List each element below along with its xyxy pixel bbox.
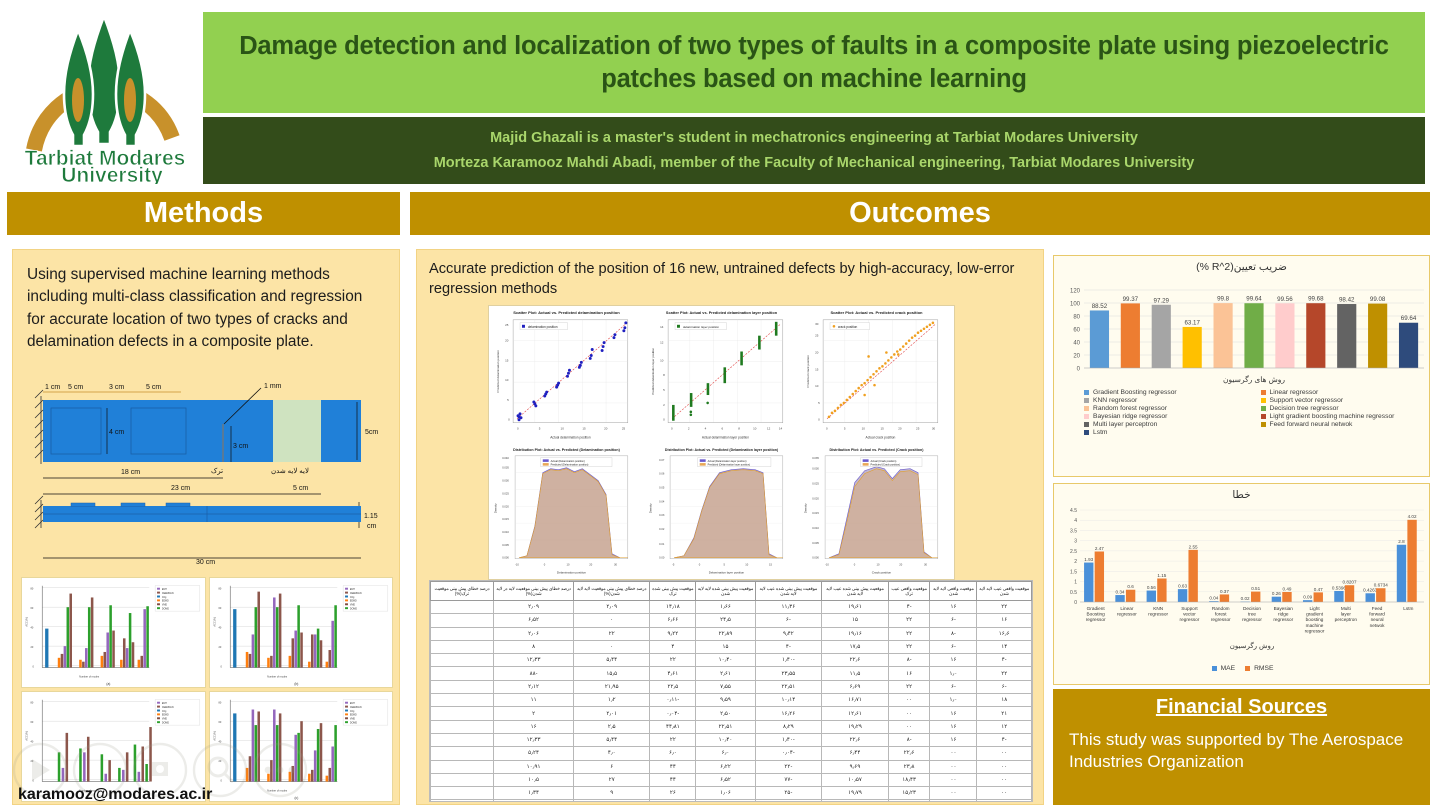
table-col-header-5: موقعیت پیش بینی شده لایه لایه شدن bbox=[696, 582, 755, 601]
table-row: -۴۱۶-۸۲۲٫۶-۱٫۴۰۱۰٫۴۰۲۲۵٫۴۴۱۲٫۳۳ bbox=[431, 654, 1032, 667]
error-bar bbox=[1334, 591, 1343, 602]
dim-30cm: 30 cm bbox=[196, 559, 215, 566]
table-cell: ۱٫۰ bbox=[930, 694, 977, 707]
svg-text:VMD: VMD bbox=[349, 605, 354, 607]
table-cell: ۵٫۲۴ bbox=[493, 747, 573, 760]
svg-text:20: 20 bbox=[218, 646, 221, 649]
table-cell: ۸ bbox=[493, 640, 573, 653]
table-cell: ۶٫۶۶ bbox=[650, 614, 696, 627]
svg-text:0.025: 0.025 bbox=[502, 491, 509, 495]
dist-3-xlabel: Crack position bbox=[872, 570, 892, 574]
svg-text:0.000: 0.000 bbox=[502, 555, 509, 559]
table-col-header-0: موقعیت واقعی عیب لایه لایه شدن bbox=[977, 582, 1032, 601]
poster-title-banner: Damage detection and localization of two… bbox=[203, 12, 1425, 113]
r2-legend-item: Gradient Boosting regressor bbox=[1084, 389, 1253, 396]
error-xtick: gradient bbox=[1306, 612, 1324, 617]
svg-text:0: 0 bbox=[818, 418, 820, 422]
table-cell: ۱۱ bbox=[493, 694, 573, 707]
results-plots-panel: Scatter Plot: Actual vs. Predicted delam… bbox=[488, 305, 955, 580]
error-chart-legend: MAERMSE bbox=[1054, 665, 1431, 672]
error-bar-value: 0.4263 bbox=[1363, 588, 1377, 593]
table-col-header-3: موقعیت پیش بینی شده عیب لایه لایه شدن bbox=[822, 582, 889, 601]
error-chart-title: خطا bbox=[1054, 484, 1429, 501]
r2-bar bbox=[1090, 310, 1109, 368]
table-cell: ۱٫۲ bbox=[574, 694, 650, 707]
r2-chart-legend: Gradient Boosting regressorLinear regres… bbox=[1084, 389, 1429, 474]
svg-text:20: 20 bbox=[604, 427, 608, 431]
svg-text:Number of modes: Number of modes bbox=[267, 789, 288, 792]
r2-bar-value: 69.64 bbox=[1401, 315, 1417, 322]
poster-title: Damage detection and localization of two… bbox=[203, 30, 1425, 95]
table-cell: ۲٫۵ bbox=[574, 720, 650, 733]
table-cell: ۴ bbox=[650, 640, 696, 653]
svg-text:CEEMDAN: CEEMDAN bbox=[349, 592, 361, 595]
table-cell: -۶ bbox=[930, 614, 977, 627]
dist-2-legend-pred: Predicted (Delamination layer position) bbox=[708, 463, 751, 466]
svg-text:5: 5 bbox=[723, 562, 725, 566]
dim-5cm-bottom: 5 cm bbox=[293, 485, 308, 492]
svg-text:20: 20 bbox=[31, 646, 34, 649]
error-xtick: Boosting bbox=[1087, 612, 1106, 617]
table-cell: ۱۶ bbox=[930, 733, 977, 746]
table-cell: -۱٫۴۰ bbox=[755, 733, 822, 746]
svg-text:10: 10 bbox=[505, 378, 509, 382]
svg-text:20: 20 bbox=[31, 760, 34, 763]
dist-1-legend-pred: Predicted (Delamination position) bbox=[551, 462, 589, 466]
table-cell: ۴٫۰ bbox=[574, 747, 650, 760]
error-ytick: 1 bbox=[1074, 580, 1077, 586]
table-cell: ۲۲٫۵ bbox=[650, 680, 696, 693]
r2-bar-value: 99.64 bbox=[1246, 296, 1262, 303]
distribution-plot-delamination: Distribution Plot: Actual vs. Predicted … bbox=[489, 443, 644, 580]
table-cell: -۴ bbox=[755, 640, 822, 653]
error-xtick: layer bbox=[1341, 612, 1352, 617]
svg-text:EMT: EMT bbox=[349, 703, 354, 705]
svg-text:40: 40 bbox=[31, 627, 34, 630]
error-bar-value: 0.6734 bbox=[1374, 583, 1388, 588]
svg-text:0.020: 0.020 bbox=[502, 504, 509, 508]
error-bar-value: 4.02 bbox=[1408, 514, 1417, 519]
table-cell bbox=[431, 694, 494, 707]
svg-text:VMD: VMD bbox=[349, 719, 354, 721]
scatter-1-xlabel: Actual delamination position bbox=[550, 436, 591, 440]
error-xtick: Support bbox=[1181, 606, 1198, 611]
legend-label: RMSE bbox=[1254, 665, 1273, 672]
svg-text:80: 80 bbox=[218, 702, 221, 705]
table-cell: ۰۰ bbox=[888, 720, 930, 733]
table-cell: ۲۲ bbox=[977, 667, 1032, 680]
error-xtick: KNN bbox=[1153, 606, 1163, 611]
table-cell: ۰ bbox=[574, 640, 650, 653]
dim-thickness-unit: cm bbox=[367, 523, 377, 530]
error-bar-value: 0.51 bbox=[1251, 586, 1260, 591]
svg-text:10: 10 bbox=[753, 427, 757, 431]
table-cell: ۱۶ bbox=[930, 601, 977, 614]
table-cell: ۲٫۰۱ bbox=[574, 707, 650, 720]
table-cell bbox=[431, 614, 494, 627]
table-cell: ۱۰٫۵۷ bbox=[822, 773, 889, 786]
error-bar-value: 0.56 bbox=[1147, 585, 1156, 590]
error-bar bbox=[1366, 593, 1375, 602]
error-bar bbox=[1188, 550, 1197, 602]
table-cell: ۱۲٫۳۳ bbox=[493, 733, 573, 746]
table-cell: ۴۴ bbox=[650, 773, 696, 786]
svg-text:5: 5 bbox=[818, 401, 820, 405]
r2-bar-value: 63.17 bbox=[1184, 319, 1200, 326]
patch-2 bbox=[131, 408, 186, 454]
financial-sources-card: Financial Sources This study was support… bbox=[1053, 689, 1430, 805]
table-cell: -۸۸ bbox=[493, 667, 573, 680]
svg-text:0: 0 bbox=[220, 666, 222, 669]
table-col-header-4: موقعیت پیش بینی شده عیب لایه لایه شدن bbox=[755, 582, 822, 601]
scatter-1-title: Scatter Plot: Actual vs. Predicted delam… bbox=[513, 310, 620, 315]
table-cell: ۲٫۶۱ bbox=[696, 667, 755, 680]
table-cell: ۱۶ bbox=[930, 720, 977, 733]
error-bar bbox=[1314, 592, 1323, 602]
table-cell: ۶٫۰ bbox=[650, 747, 696, 760]
table-cell bbox=[431, 720, 494, 733]
table-cell: ۱٫۰ bbox=[930, 667, 977, 680]
svg-text:DOMD: DOMD bbox=[349, 609, 356, 611]
table-cell: ۱۸٫۴۳ bbox=[888, 773, 930, 786]
svg-text:0: 0 bbox=[220, 780, 222, 783]
table-cell: ۲۲٫۶ bbox=[822, 654, 889, 667]
svg-text:12: 12 bbox=[767, 427, 771, 431]
r2-bar-value: 97.29 bbox=[1154, 297, 1170, 304]
error-bar-value: 0.26 bbox=[1272, 591, 1281, 596]
table-cell: ۱۵ bbox=[822, 614, 889, 627]
svg-text:0.040: 0.040 bbox=[502, 455, 509, 459]
predictions-data-table: موقعیت واقعی عیب لایه لایه شدنموقعیت واق… bbox=[429, 580, 1033, 802]
svg-text:10: 10 bbox=[561, 427, 565, 431]
r2-bar-value: 99.08 bbox=[1370, 296, 1386, 303]
svg-text:10: 10 bbox=[567, 562, 570, 566]
error-xtick: Feed bbox=[1372, 606, 1383, 611]
table-cell: ۱۰٫۱۴ bbox=[755, 694, 822, 707]
table-cell: ۶٫۲۲ bbox=[696, 760, 755, 773]
svg-text:0.015: 0.015 bbox=[812, 511, 819, 515]
error-legend-item: MAE bbox=[1212, 665, 1236, 672]
mini-chart-b: 02040 6080 ACC (%) Number of modes EMT C… bbox=[209, 577, 394, 688]
svg-text:0: 0 bbox=[544, 562, 546, 566]
error-xtick: regressor bbox=[1211, 617, 1231, 622]
svg-text:ACC (%): ACC (%) bbox=[26, 617, 29, 627]
poster-header: Tarbiat Modares University Damage detect… bbox=[0, 0, 1437, 188]
svg-text:20: 20 bbox=[589, 562, 592, 566]
methods-section-header: Methods bbox=[7, 192, 400, 235]
table-cell: ۹٫۴۲ bbox=[755, 627, 822, 640]
r2-chart-plot: 02040608010012088.5299.3797.2963.1799.89… bbox=[1054, 276, 1431, 388]
table-cell: ۱۱٫۳۶ bbox=[755, 601, 822, 614]
table-row: ۲۱۱۶۰۰۱۲٫۶۱۱۶٫۲۶۲٫۵۰-۰٫۰۴۲٫۰۱۲ bbox=[431, 707, 1032, 720]
legend-swatch bbox=[1084, 390, 1089, 395]
error-bar bbox=[1376, 588, 1385, 602]
svg-text:60: 60 bbox=[218, 721, 221, 724]
svg-text:80: 80 bbox=[218, 588, 221, 591]
table-cell bbox=[431, 773, 494, 786]
table-cell: ۲۶ bbox=[650, 787, 696, 800]
contact-email[interactable]: karamooz@modares.ac.ir bbox=[18, 786, 212, 804]
svg-text:0: 0 bbox=[671, 427, 673, 431]
svg-text:Number of modes: Number of modes bbox=[267, 675, 288, 678]
table-cell: ۱۰٫۵ bbox=[493, 773, 573, 786]
svg-text:0.02: 0.02 bbox=[659, 527, 665, 531]
svg-text:Orig: Orig bbox=[162, 596, 167, 599]
r2-ytick: 20 bbox=[1073, 354, 1080, 360]
table-cell bbox=[431, 760, 494, 773]
svg-text:Number of modes: Number of modes bbox=[79, 675, 100, 678]
distribution-plot-crack: Distribution Plot: Actual vs. Predicted … bbox=[799, 443, 954, 580]
table-cell: ۲۲ bbox=[650, 733, 696, 746]
error-bar bbox=[1126, 590, 1135, 602]
table-row: ۰۰۰۰۱۸٫۴۳۱۰٫۵۷-۷۷۶٫۵۲۴۴۲۷۱۰٫۵ bbox=[431, 773, 1032, 786]
table-cell: ۲۲ bbox=[888, 640, 930, 653]
table-cell: ۲۲ bbox=[888, 680, 930, 693]
table-cell: ۱۲٫۶۱ bbox=[822, 707, 889, 720]
error-xtick: Gradient bbox=[1087, 606, 1106, 611]
error-bar bbox=[1345, 585, 1354, 602]
table-cell: ۸٫۲۹ bbox=[755, 720, 822, 733]
delamination-region bbox=[273, 400, 321, 462]
r2-legend-item: Feed forward neural netwok bbox=[1261, 421, 1430, 428]
table-cell: ۰۰ bbox=[977, 773, 1032, 786]
legend-swatch bbox=[1084, 414, 1089, 419]
legend-swatch bbox=[1261, 422, 1266, 427]
error-xtick: boosting bbox=[1306, 617, 1324, 622]
table-row: ۱۶-۶۲۲۱۵-۶۲۴٫۵۶٫۶۶۰۶٫۵۲ bbox=[431, 614, 1032, 627]
dim-5cm-right: 5cm bbox=[365, 429, 378, 436]
error-bar-value: 0.47 bbox=[1314, 587, 1323, 592]
table-cell: ۱۶ bbox=[930, 654, 977, 667]
error-xtick: regressor bbox=[1305, 628, 1325, 633]
dim-3cm: 3 cm bbox=[109, 384, 124, 391]
dist-1-legend-actual: Actual (Delamination position) bbox=[551, 458, 585, 462]
svg-text:30: 30 bbox=[815, 322, 819, 326]
error-xtick: neural bbox=[1371, 617, 1384, 622]
svg-text:20: 20 bbox=[815, 350, 819, 354]
r2-bar bbox=[1306, 303, 1325, 368]
table-cell: ۲۷ bbox=[574, 773, 650, 786]
svg-text:Orig: Orig bbox=[349, 596, 354, 599]
table-cell bbox=[431, 680, 494, 693]
svg-text:CEEMDAN: CEEMDAN bbox=[162, 592, 174, 595]
table-cell: -۲۲ bbox=[755, 760, 822, 773]
error-bar bbox=[1157, 578, 1166, 602]
authors-banner: Majid Ghazali is a master's student in m… bbox=[203, 117, 1425, 184]
dim-4cm: 4 cm bbox=[109, 429, 124, 436]
error-bar bbox=[1147, 591, 1156, 602]
r2-bar-value: 99.68 bbox=[1308, 296, 1324, 303]
table-cell: ۲٫۱۲ bbox=[493, 680, 573, 693]
svg-text:ACC (%): ACC (%) bbox=[26, 731, 29, 741]
table-cell: ۰۰ bbox=[977, 800, 1032, 802]
r2-bar bbox=[1214, 303, 1233, 368]
error-xtick: tree bbox=[1248, 612, 1256, 617]
financial-sources-text: This study was supported by The Aerospac… bbox=[1053, 719, 1430, 774]
table-cell: ۶٫۶۹ bbox=[822, 680, 889, 693]
error-ytick: 1.5 bbox=[1070, 569, 1077, 575]
error-bar-value: 2.55 bbox=[1189, 544, 1198, 549]
table-cell: ۲۱٫۹۵ bbox=[574, 680, 650, 693]
legend-label: Multi layer perceptron bbox=[1093, 421, 1157, 428]
table-cell: ۲۲٫۵۱ bbox=[755, 680, 822, 693]
scatter-3-xlabel: Actual crack position bbox=[866, 436, 896, 440]
svg-text:Orig: Orig bbox=[349, 710, 354, 713]
table-cell bbox=[431, 601, 494, 614]
r2-bar-value: 98.42 bbox=[1339, 297, 1355, 304]
svg-text:6: 6 bbox=[722, 427, 724, 431]
scatter-3-legend: crack position bbox=[838, 325, 858, 329]
error-bar bbox=[1095, 552, 1104, 602]
svg-text:20: 20 bbox=[899, 562, 902, 566]
dim-18cm: 18 cm bbox=[121, 469, 140, 476]
table-row: ۲۲۱٫۰۱۶۱۱٫۵۲۳٫۵۵۲٫۶۱۴٫۶۱۱۵٫۵-۸۸ bbox=[431, 667, 1032, 680]
legend-label: MAE bbox=[1221, 665, 1236, 672]
svg-text:40: 40 bbox=[31, 741, 34, 744]
table-cell: -۰٫۰۴ bbox=[755, 747, 822, 760]
legend-label: KNN regressor bbox=[1093, 397, 1137, 404]
svg-text:EMT: EMT bbox=[162, 589, 167, 591]
svg-text:0: 0 bbox=[854, 562, 856, 566]
r2-legend-item: Decision tree regressor bbox=[1261, 405, 1430, 412]
svg-text:0.06: 0.06 bbox=[659, 471, 665, 475]
r2-legend-item: Multi layer perceptron bbox=[1084, 421, 1253, 428]
svg-text:20: 20 bbox=[505, 339, 509, 343]
error-bar-value: 0.09 bbox=[1303, 595, 1312, 600]
table-cell: ۹ bbox=[574, 787, 650, 800]
table-row: ۰۰۰۰۲۲٫۶۶٫۴۴-۰٫۰۴۶٫۰۶٫۰۴٫۰۵٫۲۴ bbox=[431, 747, 1032, 760]
table-cell: ۱٫۰۶ bbox=[696, 787, 755, 800]
r2-bar bbox=[1399, 323, 1418, 368]
svg-text:EEMD: EEMD bbox=[349, 601, 356, 603]
table-row: -۶-۶۲۲۶٫۶۹۲۲٫۵۱۷٫۵۵۲۲٫۵۲۱٫۹۵۲٫۱۲ bbox=[431, 680, 1032, 693]
label-delamination-fa: لایه لایه شدن bbox=[271, 467, 309, 475]
error-xtick: vector bbox=[1183, 612, 1196, 617]
error-bar-value: 0.49 bbox=[1282, 586, 1291, 591]
table-header-row: موقعیت واقعی عیب لایه لایه شدنموقعیت واق… bbox=[431, 582, 1032, 601]
legend-swatch bbox=[1245, 666, 1250, 671]
error-bar bbox=[1407, 520, 1416, 602]
error-xtick: regressor bbox=[1086, 617, 1106, 622]
svg-text:10: 10 bbox=[815, 384, 819, 388]
mini-chart-caption-a: (a) bbox=[106, 682, 110, 686]
table-cell: -۶ bbox=[930, 640, 977, 653]
legend-label: Random forest regressor bbox=[1093, 405, 1167, 412]
error-bar-value: 1.15 bbox=[1157, 573, 1166, 578]
legend-swatch bbox=[1084, 430, 1089, 435]
error-xtick: regressor bbox=[1273, 617, 1293, 622]
dist-3-legend-actual: Actual (Crack position) bbox=[871, 458, 897, 462]
dist-2-ylabel: Density bbox=[648, 502, 652, 512]
dim-5cm-a: 5 cm bbox=[68, 384, 83, 391]
error-ytick: 0.5 bbox=[1070, 590, 1077, 596]
table-cell: ۱۷٫۵ bbox=[822, 640, 889, 653]
table-cell: ۴۴ bbox=[650, 760, 696, 773]
table-cell bbox=[431, 667, 494, 680]
svg-text:15: 15 bbox=[582, 427, 586, 431]
error-bar-value: 1.93 bbox=[1084, 557, 1093, 562]
error-xtick: ridge bbox=[1278, 612, 1289, 617]
table-cell: ۲۲ bbox=[977, 601, 1032, 614]
table-cell: ۲ bbox=[493, 707, 573, 720]
svg-text:8: 8 bbox=[738, 427, 740, 431]
r2-bar bbox=[1275, 303, 1294, 368]
mini-chart-a: 02040 6080 ACC (%) Number of modes EMT C… bbox=[21, 577, 206, 688]
table-cell bbox=[431, 787, 494, 800]
svg-text:10: 10 bbox=[877, 562, 880, 566]
svg-text:0.020: 0.020 bbox=[812, 496, 819, 500]
svg-text:5: 5 bbox=[844, 427, 846, 431]
legend-swatch bbox=[1084, 406, 1089, 411]
table-cell: -۵۲ bbox=[822, 800, 889, 802]
table-row: ۱۴-۶۲۲۱۷٫۵-۴۱۵۴۰۸ bbox=[431, 640, 1032, 653]
table-cell: ۱۶ bbox=[493, 720, 573, 733]
r2-chart-title: ضریب تعیین(R^2 %) bbox=[1054, 256, 1429, 273]
error-bar-value: 0.63 bbox=[1178, 584, 1187, 589]
table-cell: ۲۳٫۸ bbox=[888, 760, 930, 773]
svg-text:60: 60 bbox=[31, 607, 34, 610]
scatter-1-ylabel: Predicted delamination position bbox=[496, 350, 500, 393]
table-cell: ۲۲٫۵۱ bbox=[696, 720, 755, 733]
error-bar-value: 0.8207 bbox=[1342, 580, 1356, 585]
table-cell bbox=[431, 733, 494, 746]
r2-bar-value: 88.52 bbox=[1092, 303, 1108, 310]
svg-text:DOMD: DOMD bbox=[349, 723, 356, 725]
svg-text:EEMD: EEMD bbox=[162, 715, 169, 717]
table-cell: ۱۶٫۷۱ bbox=[822, 694, 889, 707]
svg-text:0.030: 0.030 bbox=[812, 466, 819, 470]
error-ytick: 3 bbox=[1074, 539, 1077, 545]
error-xlabel: روش رگرسیون bbox=[1230, 641, 1275, 650]
table-cell: ۲۴٫۵ bbox=[696, 614, 755, 627]
dist-2-xlabel: Delamination layer position bbox=[709, 570, 745, 574]
svg-text:0.000: 0.000 bbox=[812, 555, 819, 559]
r2-chart-card: ضریب تعیین(R^2 %) 02040608010012088.5299… bbox=[1053, 255, 1430, 477]
svg-text:15: 15 bbox=[769, 562, 772, 566]
table-cell: ۹٫۲۲ bbox=[650, 627, 696, 640]
legend-label: Feed forward neural netwok bbox=[1270, 421, 1353, 428]
table-cell: ۹٫۶۹ bbox=[822, 760, 889, 773]
svg-text:0: 0 bbox=[663, 418, 665, 422]
methods-panel: Using supervised machine learning method… bbox=[12, 249, 400, 805]
r2-ytick: 100 bbox=[1070, 302, 1081, 308]
table-col-header-6: موقعیت پیش بینی شده ترک bbox=[650, 582, 696, 601]
r2-legend-item: Support vector regressor bbox=[1261, 397, 1430, 404]
table-row: ۱۸۱٫۰۰۰۱۶٫۷۱۱۰٫۱۴۹٫۵۹-۰٫۱۱۱٫۲۱۱ bbox=[431, 694, 1032, 707]
svg-text:-5: -5 bbox=[672, 562, 675, 566]
table-cell: ۰۰ bbox=[930, 760, 977, 773]
svg-text:0.010: 0.010 bbox=[502, 530, 509, 534]
svg-text:ACC (%): ACC (%) bbox=[213, 731, 216, 741]
legend-swatch bbox=[1261, 390, 1266, 395]
table-cell: ۱۰٫۹۱ bbox=[493, 760, 573, 773]
scatter-plot-crack: Scatter Plot: Actual vs. Predicted crack… bbox=[799, 306, 954, 443]
table-cell: ۲۱ bbox=[977, 707, 1032, 720]
error-ytick: 4.5 bbox=[1070, 508, 1077, 514]
author-line-1: Majid Ghazali is a master's student in m… bbox=[490, 130, 1138, 146]
svg-text:40: 40 bbox=[218, 627, 221, 630]
table-cell: -۴ bbox=[977, 654, 1032, 667]
legend-label: Support vector regressor bbox=[1270, 397, 1344, 404]
table-cell: ۰۰ bbox=[930, 773, 977, 786]
table-cell: ۰۰ bbox=[888, 707, 930, 720]
error-xtick: regressor bbox=[1148, 612, 1168, 617]
table-cell: ۴٫۶۱ bbox=[650, 667, 696, 680]
r2-xlabel: روش های رگرسیون bbox=[1223, 374, 1285, 384]
svg-text:80: 80 bbox=[31, 702, 34, 705]
svg-text:30: 30 bbox=[614, 562, 617, 566]
dim-1mm: 1 mm bbox=[264, 383, 282, 390]
